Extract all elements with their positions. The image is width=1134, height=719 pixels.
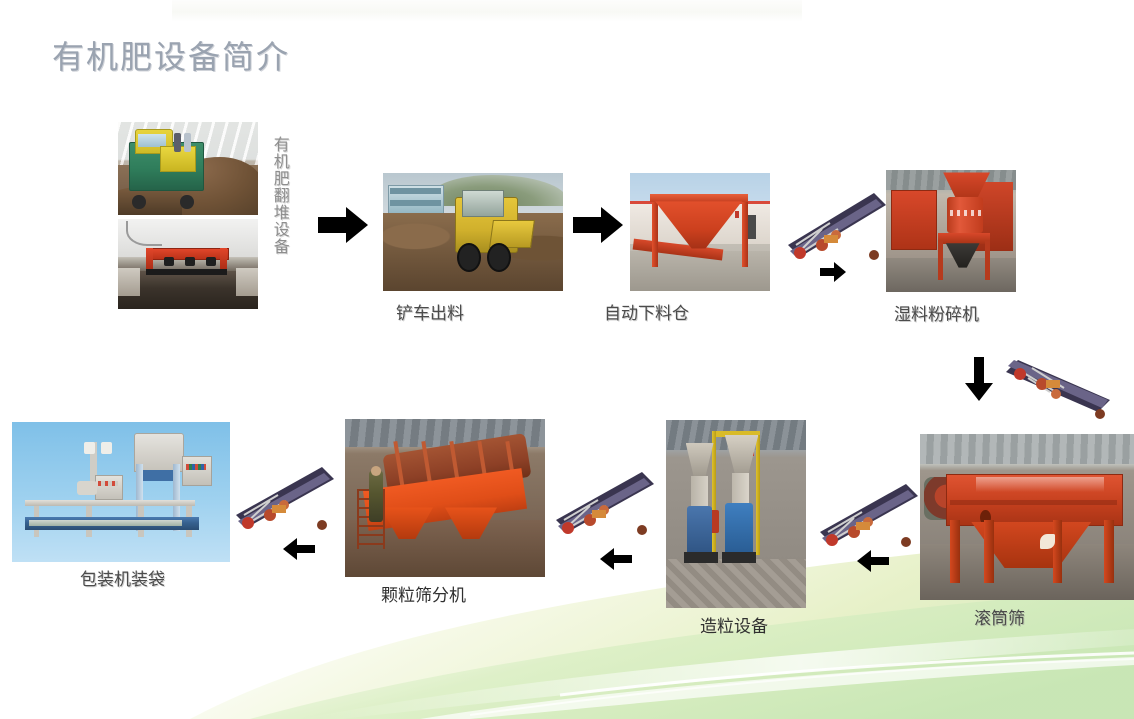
arrow-left-5 — [857, 550, 889, 572]
node-auto-feeding-bin[interactable]: 自动下料仓 — [630, 173, 770, 291]
granulator-photo — [666, 420, 806, 608]
auto-feeding-bin-label: 自动下料仓 — [604, 299, 689, 324]
wet-crusher-photo — [886, 170, 1016, 292]
conveyor-belt-2 — [998, 350, 1116, 430]
rotary-drum-screen-label: 滚筒筛 — [974, 604, 1025, 629]
node-rotary-drum-screen[interactable]: 滚筒筛 — [920, 434, 1134, 600]
node-granule-screening-machine[interactable]: 颗粒筛分机 — [345, 419, 545, 577]
node-packing-machine[interactable]: 包装机装袋 — [12, 422, 230, 562]
arrow-right-2 — [573, 206, 623, 244]
compost-turner-vertical-label: 有机肥翻堆设备 — [270, 136, 287, 296]
node-loader-discharge[interactable]: 铲车出料 — [383, 173, 563, 291]
loader-discharge-label: 铲车出料 — [396, 299, 464, 324]
granulating-equipment-label: 造粒设备 — [700, 612, 768, 637]
arrow-down-4 — [965, 357, 993, 401]
node-granulating-equipment[interactable]: 造粒设备 — [666, 420, 806, 608]
conveyor-belt-5 — [228, 455, 338, 535]
rotary-drum-screen-photo — [920, 434, 1134, 600]
arrow-left-6 — [600, 548, 632, 570]
top-decorative-band — [172, 0, 802, 22]
packing-machine-label: 包装机装袋 — [80, 565, 165, 590]
auto-feeding-hopper-photo — [630, 173, 770, 291]
conveyor-belt-4 — [548, 460, 658, 540]
arrow-right-1 — [318, 206, 368, 244]
node-compost-turner[interactable]: 有机肥翻堆设备 — [118, 122, 258, 309]
wet-crusher-label: 湿料粉碎机 — [894, 300, 979, 325]
arrow-right-3 — [820, 262, 846, 282]
granule-screening-photo — [345, 419, 545, 577]
slide-canvas: 有机肥设备简介 — [0, 0, 1134, 719]
node-wet-crusher[interactable]: 湿料粉碎机 — [886, 170, 1016, 292]
wheel-loader-photo — [383, 173, 563, 291]
conveyor-belt-1 — [778, 183, 890, 263]
granule-screening-label: 颗粒筛分机 — [381, 581, 466, 606]
compost-turner-machine-photo — [118, 122, 258, 215]
trench-turner-machine-photo — [118, 219, 258, 309]
page-title: 有机肥设备简介 — [52, 32, 290, 78]
conveyor-belt-3 — [812, 472, 922, 552]
arrow-left-7 — [283, 538, 315, 560]
packing-machine-photo — [12, 422, 230, 562]
